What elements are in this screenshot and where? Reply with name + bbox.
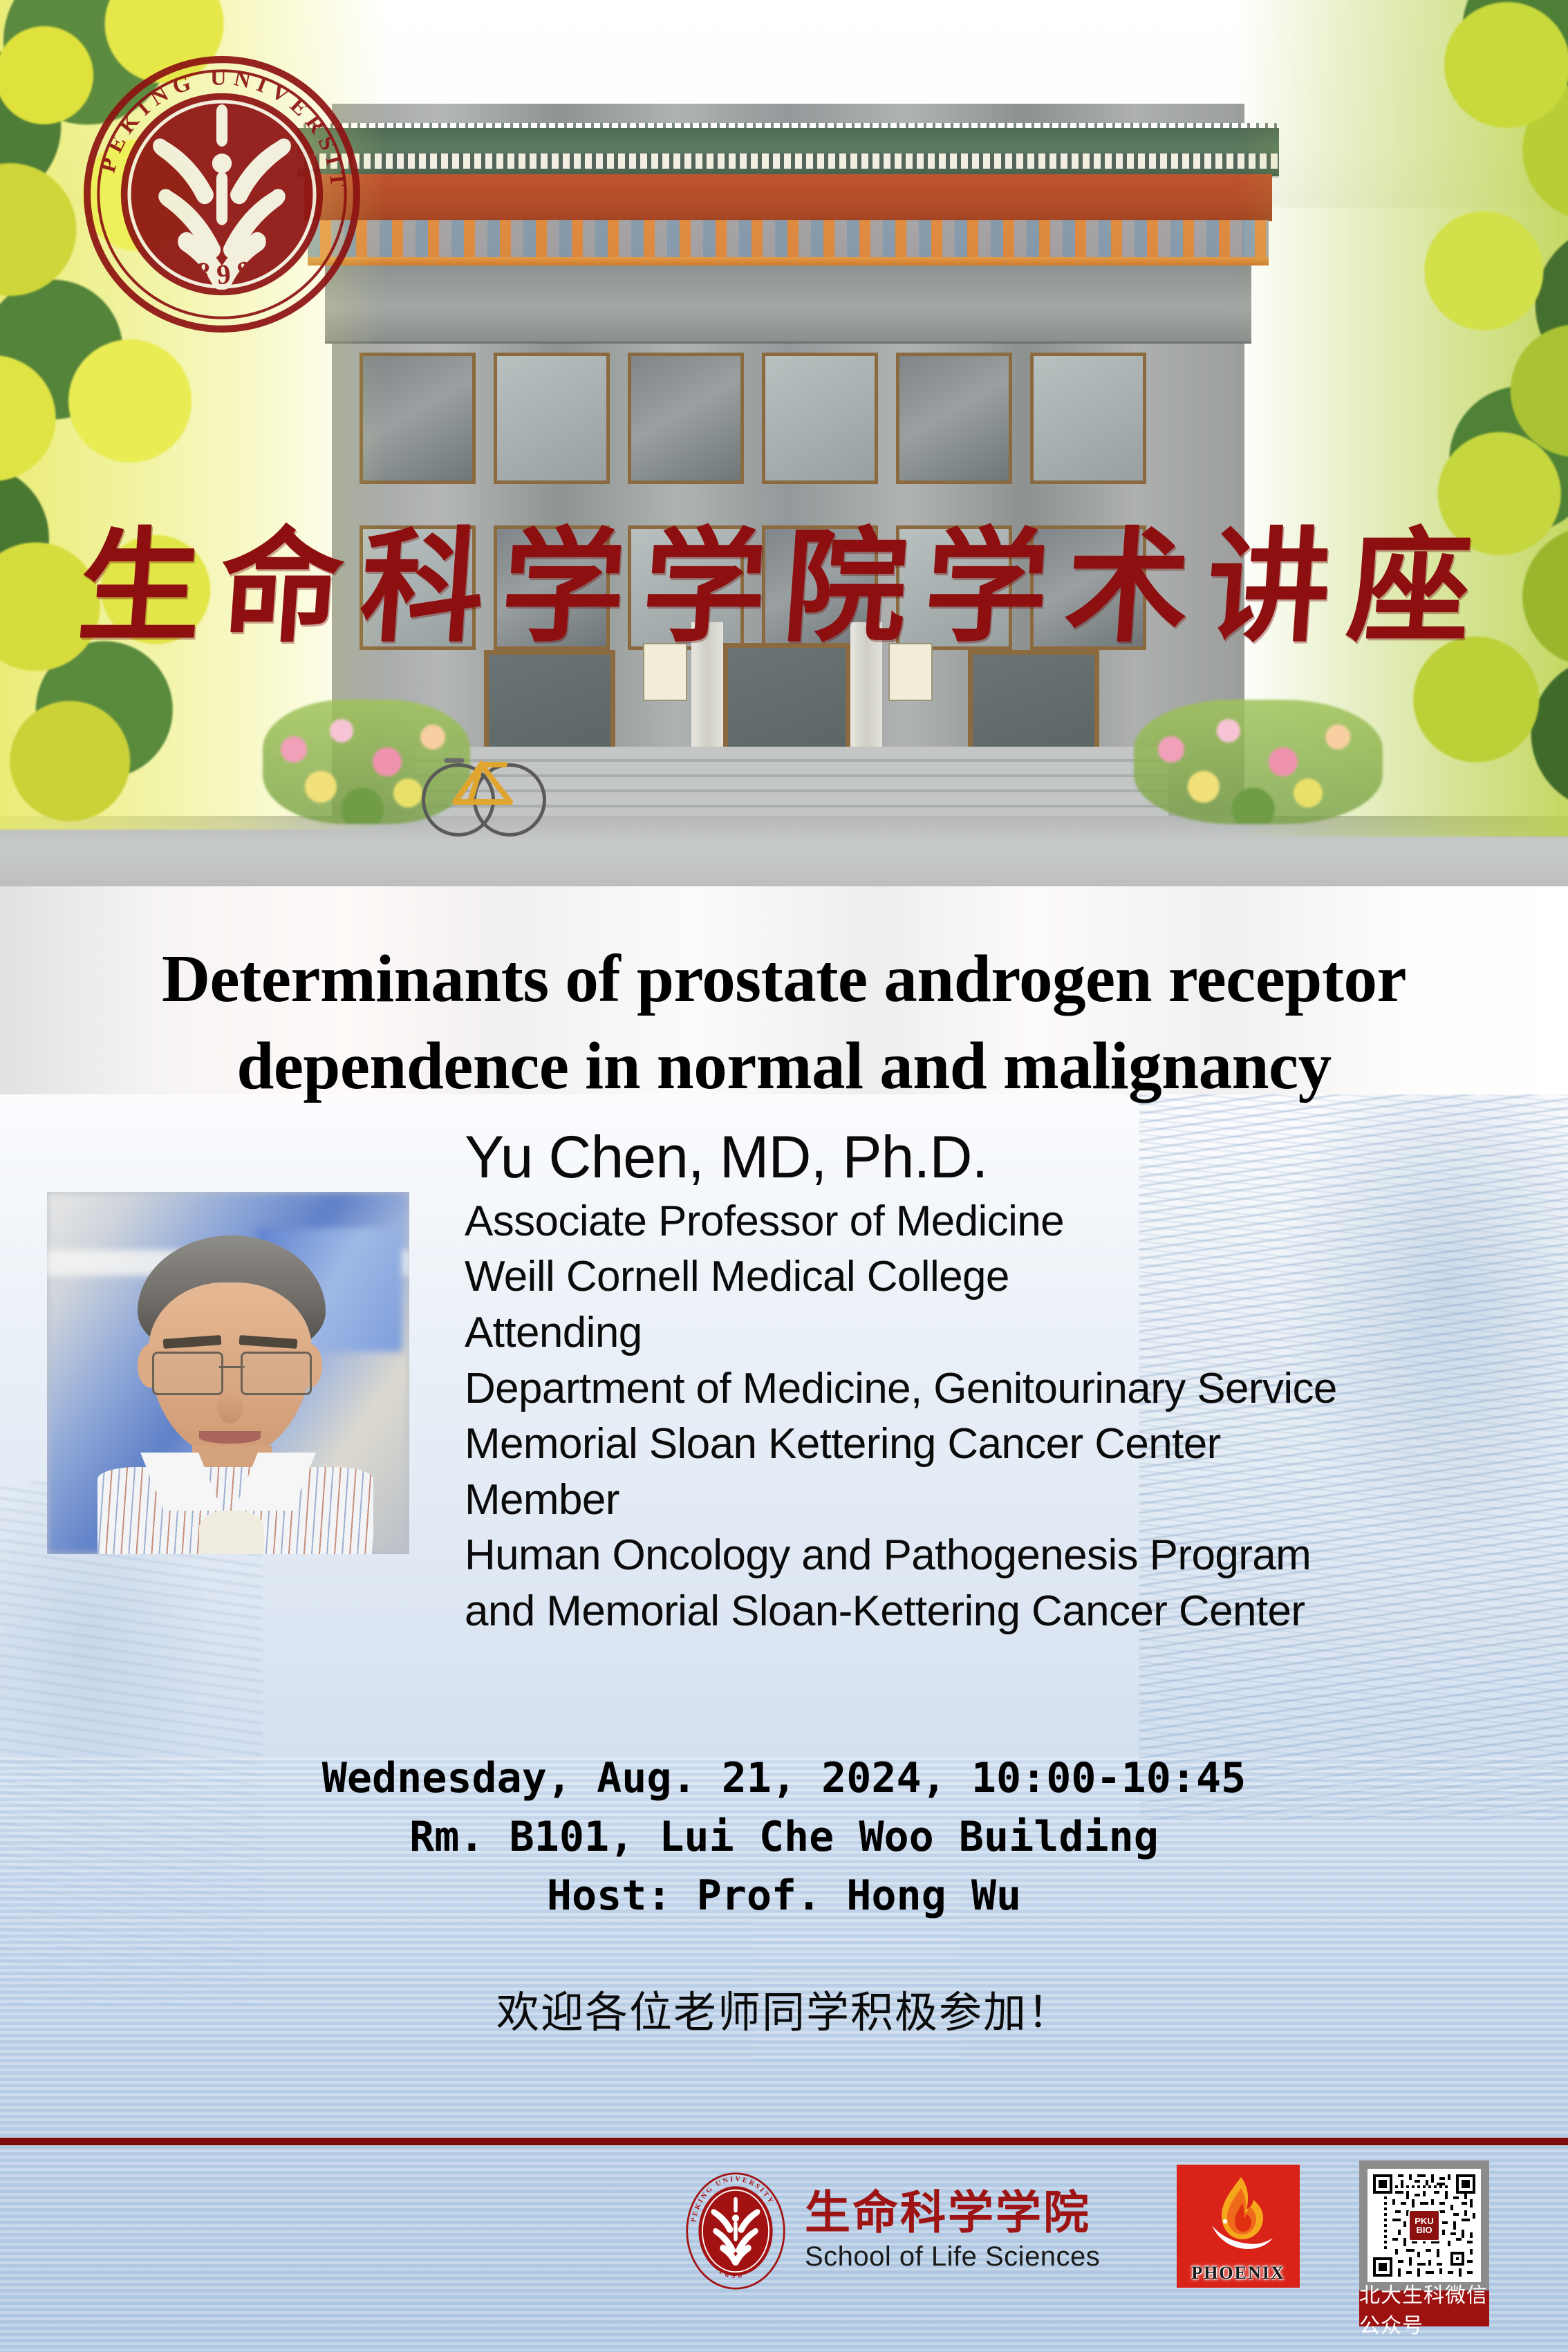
speaker-affiliation-2: Weill Cornell Medical College xyxy=(465,1249,1502,1305)
lecture-poster: PEKING UNIVERSITY 1898 生命科学学院学术讲座 Determ… xyxy=(0,0,1568,2352)
event-datetime: Wednesday, Aug. 21, 2024, 10:00-10:45 xyxy=(0,1749,1568,1808)
wechat-qr-block[interactable]: PKU BIO 北大生科微信公众号 xyxy=(1359,2160,1489,2326)
event-host: Host: Prof. Hong Wu xyxy=(0,1867,1568,1925)
speaker-affiliation-8: and Memorial Sloan-Kettering Cancer Cent… xyxy=(465,1584,1502,1640)
footer: PEKING UNIVERSITY 1898 生命科学学院 School of … xyxy=(0,2145,1568,2352)
qr-center-bottom: BIO xyxy=(1416,2225,1432,2234)
footer-school-name-cn: 生命科学学院 xyxy=(805,2190,1100,2237)
flame-icon xyxy=(1201,2165,1276,2263)
qr-center-logo: PKU BIO xyxy=(1408,2210,1440,2241)
event-location: Rm. B101, Lui Che Woo Building xyxy=(0,1808,1568,1867)
speaker-info: Yu Chen, MD, Ph.D. Associate Professor o… xyxy=(465,1126,1502,1640)
speaker-affiliation-1: Associate Professor of Medicine xyxy=(465,1194,1502,1250)
qr-code-frame[interactable]: PKU BIO xyxy=(1359,2160,1489,2290)
header-banner-illustration: PEKING UNIVERSITY 1898 生命科学学院学术讲座 xyxy=(0,0,1568,886)
qr-caption: 北大生科微信公众号 xyxy=(1359,2290,1489,2326)
eave-band xyxy=(308,257,1269,265)
footer-peking-university-seal: PEKING UNIVERSITY 1898 xyxy=(684,2172,787,2290)
green-roof xyxy=(297,128,1279,176)
speaker-name: Yu Chen, MD, Ph.D. xyxy=(465,1126,1502,1190)
stone-cornice xyxy=(325,265,1251,344)
roof-tile-row xyxy=(297,153,1279,169)
talk-title-line-1: Determinants of prostate androgen recept… xyxy=(55,935,1513,1023)
school-logo-group: PEKING UNIVERSITY 1898 生命科学学院 School of … xyxy=(684,2172,1100,2290)
eave-decoration xyxy=(308,220,1269,260)
peking-university-seal: PEKING UNIVERSITY 1898 xyxy=(82,54,362,335)
footer-school-name-en: School of Life Sciences xyxy=(805,2241,1100,2272)
phoenix-label: PHOENIX xyxy=(1191,2263,1285,2284)
speaker-affiliation-5: Memorial Sloan Kettering Cancer Center xyxy=(465,1417,1502,1473)
speaker-affiliation-4: Department of Medicine, Genitourinary Se… xyxy=(465,1361,1502,1417)
red-eave xyxy=(304,174,1272,221)
qr-code-image[interactable]: PKU BIO xyxy=(1368,2169,1481,2282)
footer-divider xyxy=(0,2138,1568,2145)
phoenix-sponsor-logo: PHOENIX xyxy=(1177,2165,1300,2288)
speaker-affiliation-3: Attending xyxy=(465,1305,1502,1361)
speaker-affiliation-7: Human Oncology and Pathogenesis Program xyxy=(465,1528,1502,1584)
bicycle-icon xyxy=(422,733,546,837)
flowerbed-right xyxy=(1134,700,1383,824)
speaker-affiliation-6: Member xyxy=(465,1473,1502,1529)
talk-title: Determinants of prostate androgen recept… xyxy=(55,935,1513,1110)
window-row-upper xyxy=(360,353,1146,484)
chinese-banner-title: 生命科学学院学术讲座 xyxy=(0,525,1568,648)
event-details: Wednesday, Aug. 21, 2024, 10:00-10:45 Rm… xyxy=(0,1749,1568,1926)
speaker-photo xyxy=(47,1192,409,1554)
welcome-message: 欢迎各位老师同学积极参加！ xyxy=(0,1977,1568,2040)
talk-title-line-2: dependence in normal and malignancy xyxy=(55,1023,1513,1110)
